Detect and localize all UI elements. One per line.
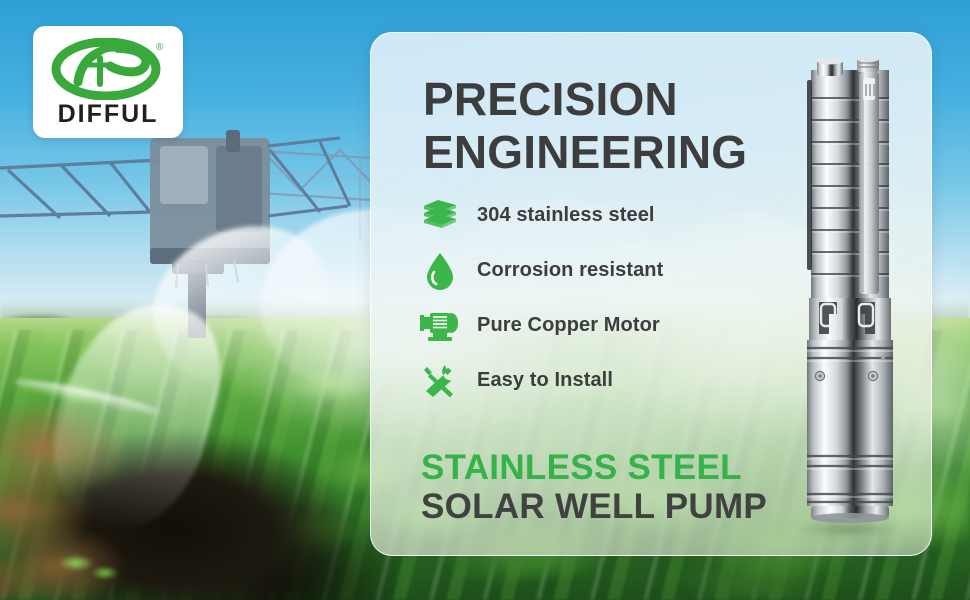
- list-item-label: Easy to Install: [477, 369, 613, 392]
- water-droplet-icon: [419, 251, 461, 291]
- headline-line-1: PRECISION: [423, 73, 747, 126]
- product-subheadline: STAINLESS STEEL SOLAR WELL PUMP: [421, 448, 767, 526]
- list-item: Easy to Install: [419, 353, 749, 408]
- list-item-label: Pure Copper Motor: [477, 314, 660, 337]
- headline-line-2: ENGINEERING: [423, 126, 747, 179]
- subheadline-line-1: STAINLESS STEEL: [421, 448, 767, 487]
- difful-swirl-logo-icon: ®: [48, 38, 168, 100]
- brand-logo: ® DIFFUL: [33, 26, 183, 138]
- submersible-solar-well-pump-icon: [795, 58, 905, 528]
- electric-motor-icon: [419, 306, 461, 346]
- page-title: PRECISION ENGINEERING: [423, 73, 747, 180]
- list-item: Pure Copper Motor: [419, 298, 749, 353]
- brand-wordmark: DIFFUL: [58, 102, 159, 127]
- list-item-label: 304 stainless steel: [477, 204, 655, 227]
- steel-plates-stack-icon: [419, 196, 461, 236]
- list-item: Corrosion resistant: [419, 243, 749, 298]
- subheadline-line-2: SOLAR WELL PUMP: [421, 487, 767, 526]
- wrench-screwdriver-icon: [419, 361, 461, 401]
- soil-sprout: [40, 545, 130, 590]
- list-item: 304 stainless steel: [419, 188, 749, 243]
- product-banner: ® DIFFUL PRECISION ENGINEERING: [0, 0, 970, 600]
- feature-list: 304 stainless steel Corrosion resistant: [419, 188, 749, 408]
- svg-text:®: ®: [156, 42, 164, 53]
- list-item-label: Corrosion resistant: [477, 259, 663, 282]
